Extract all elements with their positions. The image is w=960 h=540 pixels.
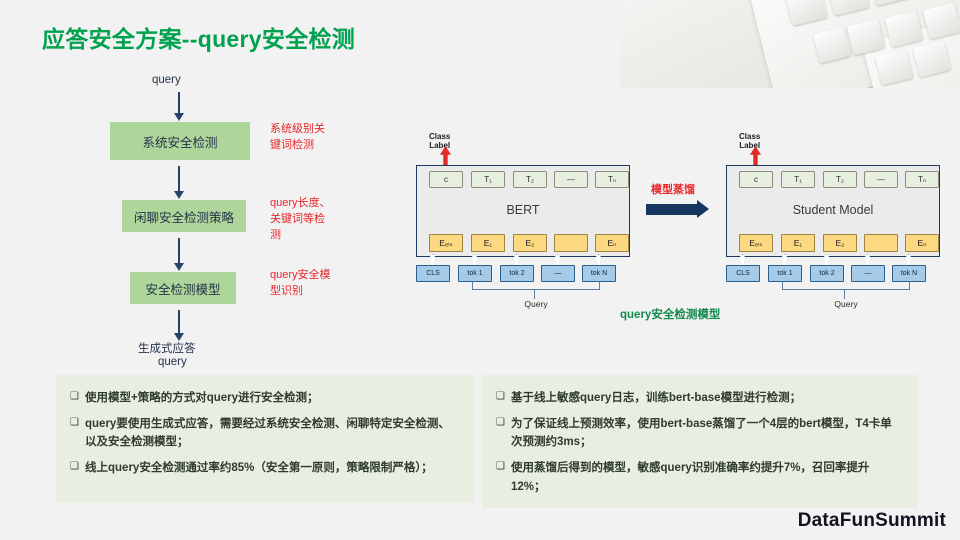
teacher-panel-label: BERT xyxy=(417,203,629,217)
student-panel: Student Model c T₁ T₂ — Tₙ Eₑₗₛ E₁ E₂ Eₙ xyxy=(726,165,940,257)
flow-note-2: query安全模型识别 xyxy=(270,268,334,300)
notes-right-box: ❑ 基于线上敏感query日志，训练bert-base模型进行检测； ❑ 为了保… xyxy=(482,375,918,508)
list-item: ❑ 使用模型+策略的方式对query进行安全检测； xyxy=(70,389,458,408)
brand-logo: DataFunSummit xyxy=(798,510,946,532)
teacher-token-2: tok 2 xyxy=(500,265,534,282)
list-item: ❑ 基于线上敏感query日志，训练bert-base模型进行检测； xyxy=(496,389,902,408)
teacher-query-label: Query xyxy=(506,299,566,309)
flow-arrow-3 xyxy=(178,310,180,334)
student-output-2: T₂ xyxy=(823,171,857,188)
student-output-4: Tₙ xyxy=(905,171,939,188)
teacher-embedding-0: Eₑₗₛ xyxy=(429,234,463,252)
student-token-2: tok 2 xyxy=(810,265,844,282)
teacher-query-bracket xyxy=(472,281,600,290)
student-embedding-1: E₁ xyxy=(781,234,815,252)
page-title: 应答安全方案--query安全检测 xyxy=(42,20,355,54)
teacher-output-0: c xyxy=(429,171,463,188)
flow-box-0[interactable]: 系统安全检测 xyxy=(110,122,250,160)
flow-arrow-2 xyxy=(178,238,180,264)
bullet-marker-icon: ❑ xyxy=(70,415,85,452)
student-embedding-3 xyxy=(864,234,898,252)
student-token-1: tok 1 xyxy=(768,265,802,282)
flow-output-label-line2: query xyxy=(158,356,187,368)
bullet-marker-icon: ❑ xyxy=(496,389,511,408)
list-item: ❑ 使用蒸馏后得到的模型，敏感query识别准确率约提升7%，召回率提升12%； xyxy=(496,459,902,496)
student-panel-label: Student Model xyxy=(727,203,939,217)
teacher-output-2: T₂ xyxy=(513,171,547,188)
teacher-output-4: Tₙ xyxy=(595,171,629,188)
notes-left-item-2: 线上query安全检测通过率约85%（安全第一原则，策略限制严格）； xyxy=(85,459,433,478)
flow-arrow-1 xyxy=(178,166,180,192)
distillation-caption: query安全检测模型 xyxy=(620,306,720,322)
keyboard-photo-decoration xyxy=(620,0,960,88)
flow-box-2[interactable]: 安全检测模型 xyxy=(130,272,236,304)
student-token-0: CLS xyxy=(726,265,760,282)
student-token-4: tok N xyxy=(892,265,926,282)
teacher-output-1: T₁ xyxy=(471,171,505,188)
teacher-query-stem xyxy=(534,290,535,299)
distillation-arrow-label: 模型蒸馏 xyxy=(651,181,695,197)
teacher-embedding-2: E₂ xyxy=(513,234,547,252)
list-item: ❑ 为了保证线上预测效率，使用bert-base蒸馏了一个4层的bert模型，T… xyxy=(496,415,902,452)
student-query-stem xyxy=(844,290,845,299)
list-item: ❑ 线上query安全检测通过率约85%（安全第一原则，策略限制严格）； xyxy=(70,459,458,478)
flow-arrow-0 xyxy=(178,92,180,114)
bullet-marker-icon: ❑ xyxy=(70,459,85,478)
student-output-3: — xyxy=(864,171,898,188)
teacher-token-3: — xyxy=(541,265,575,282)
teacher-token-1: tok 1 xyxy=(458,265,492,282)
teacher-token-4: tok N xyxy=(582,265,616,282)
notes-left-item-0: 使用模型+策略的方式对query进行安全检测； xyxy=(85,389,319,408)
notes-left-item-1: query要使用生成式应答，需要经过系统安全检测、闲聊特定安全检测、以及安全检测… xyxy=(85,415,458,452)
list-item: ❑ query要使用生成式应答，需要经过系统安全检测、闲聊特定安全检测、以及安全… xyxy=(70,415,458,452)
flow-note-0: 系统级别关键词检测 xyxy=(270,122,334,154)
distillation-diagram: ClassLabel BERT c T₁ T₂ — Tₙ Eₑₗₛ E₁ E₂ … xyxy=(404,132,952,307)
flow-note-1: query长度、关键词等检测 xyxy=(270,196,334,244)
student-token-3: — xyxy=(851,265,885,282)
teacher-panel: BERT c T₁ T₂ — Tₙ Eₑₗₛ E₁ E₂ Eₙ xyxy=(416,165,630,257)
student-embedding-4: Eₙ xyxy=(905,234,939,252)
notes-right-item-0: 基于线上敏感query日志，训练bert-base模型进行检测； xyxy=(511,389,801,408)
student-query-bracket xyxy=(782,281,910,290)
flow-input-label: query xyxy=(152,74,181,86)
student-embedding-0: Eₑₗₛ xyxy=(739,234,773,252)
security-flowchart: query 系统安全检测 系统级别关键词检测 闲聊安全检测策略 query长度、… xyxy=(60,74,360,364)
teacher-token-0: CLS xyxy=(416,265,450,282)
student-output-1: T₁ xyxy=(781,171,815,188)
distillation-arrow xyxy=(646,204,698,215)
teacher-output-3: — xyxy=(554,171,588,188)
notes-right-item-2: 使用蒸馏后得到的模型，敏感query识别准确率约提升7%，召回率提升12%； xyxy=(511,459,902,496)
flow-output-label-line1: 生成式应答 xyxy=(138,340,196,356)
slide-canvas: 应答安全方案--query安全检测 query 系统安全检测 系统级别关键词检测… xyxy=(0,0,960,540)
bullet-marker-icon: ❑ xyxy=(70,389,85,408)
flow-box-1[interactable]: 闲聊安全检测策略 xyxy=(122,200,246,232)
notes-right-item-1: 为了保证线上预测效率，使用bert-base蒸馏了一个4层的bert模型，T4卡… xyxy=(511,415,902,452)
student-embedding-2: E₂ xyxy=(823,234,857,252)
bullet-marker-icon: ❑ xyxy=(496,459,511,496)
bullet-marker-icon: ❑ xyxy=(496,415,511,452)
teacher-embedding-1: E₁ xyxy=(471,234,505,252)
teacher-embedding-4: Eₙ xyxy=(595,234,629,252)
teacher-embedding-3 xyxy=(554,234,588,252)
student-query-label: Query xyxy=(816,299,876,309)
student-output-0: c xyxy=(739,171,773,188)
notes-left-box: ❑ 使用模型+策略的方式对query进行安全检测； ❑ query要使用生成式应… xyxy=(56,375,474,503)
